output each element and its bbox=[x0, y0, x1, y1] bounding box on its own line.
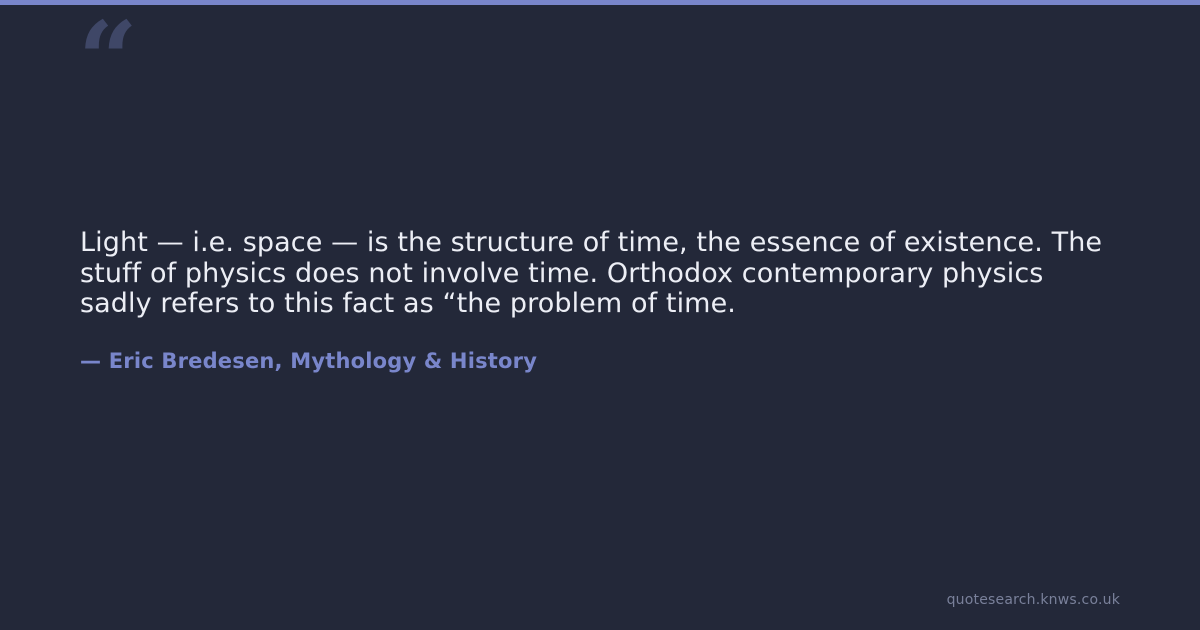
quote-content: Light — i.e. space — is the structure of… bbox=[80, 228, 1110, 373]
quote-card: “ Light — i.e. space — is the structure … bbox=[0, 0, 1200, 630]
top-accent-bar bbox=[0, 0, 1200, 5]
open-quote-icon: “ bbox=[78, 8, 136, 112]
footer-site-url: quotesearch.knws.co.uk bbox=[947, 592, 1120, 608]
quote-attribution: — Eric Bredesen, Mythology & History bbox=[80, 349, 1110, 373]
quote-text: Light — i.e. space — is the structure of… bbox=[80, 228, 1110, 320]
